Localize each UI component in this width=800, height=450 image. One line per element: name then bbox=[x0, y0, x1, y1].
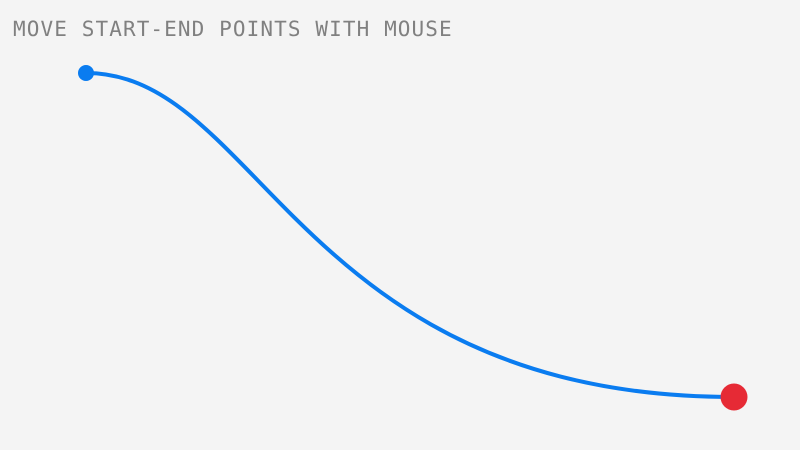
bezier-editor-canvas[interactable]: MOVE START-END POINTS WITH MOUSE bbox=[0, 0, 800, 450]
bezier-curve bbox=[86, 73, 734, 397]
start-point-handle[interactable] bbox=[78, 65, 94, 81]
end-point-handle[interactable] bbox=[721, 384, 748, 411]
curve-stage bbox=[0, 0, 800, 450]
